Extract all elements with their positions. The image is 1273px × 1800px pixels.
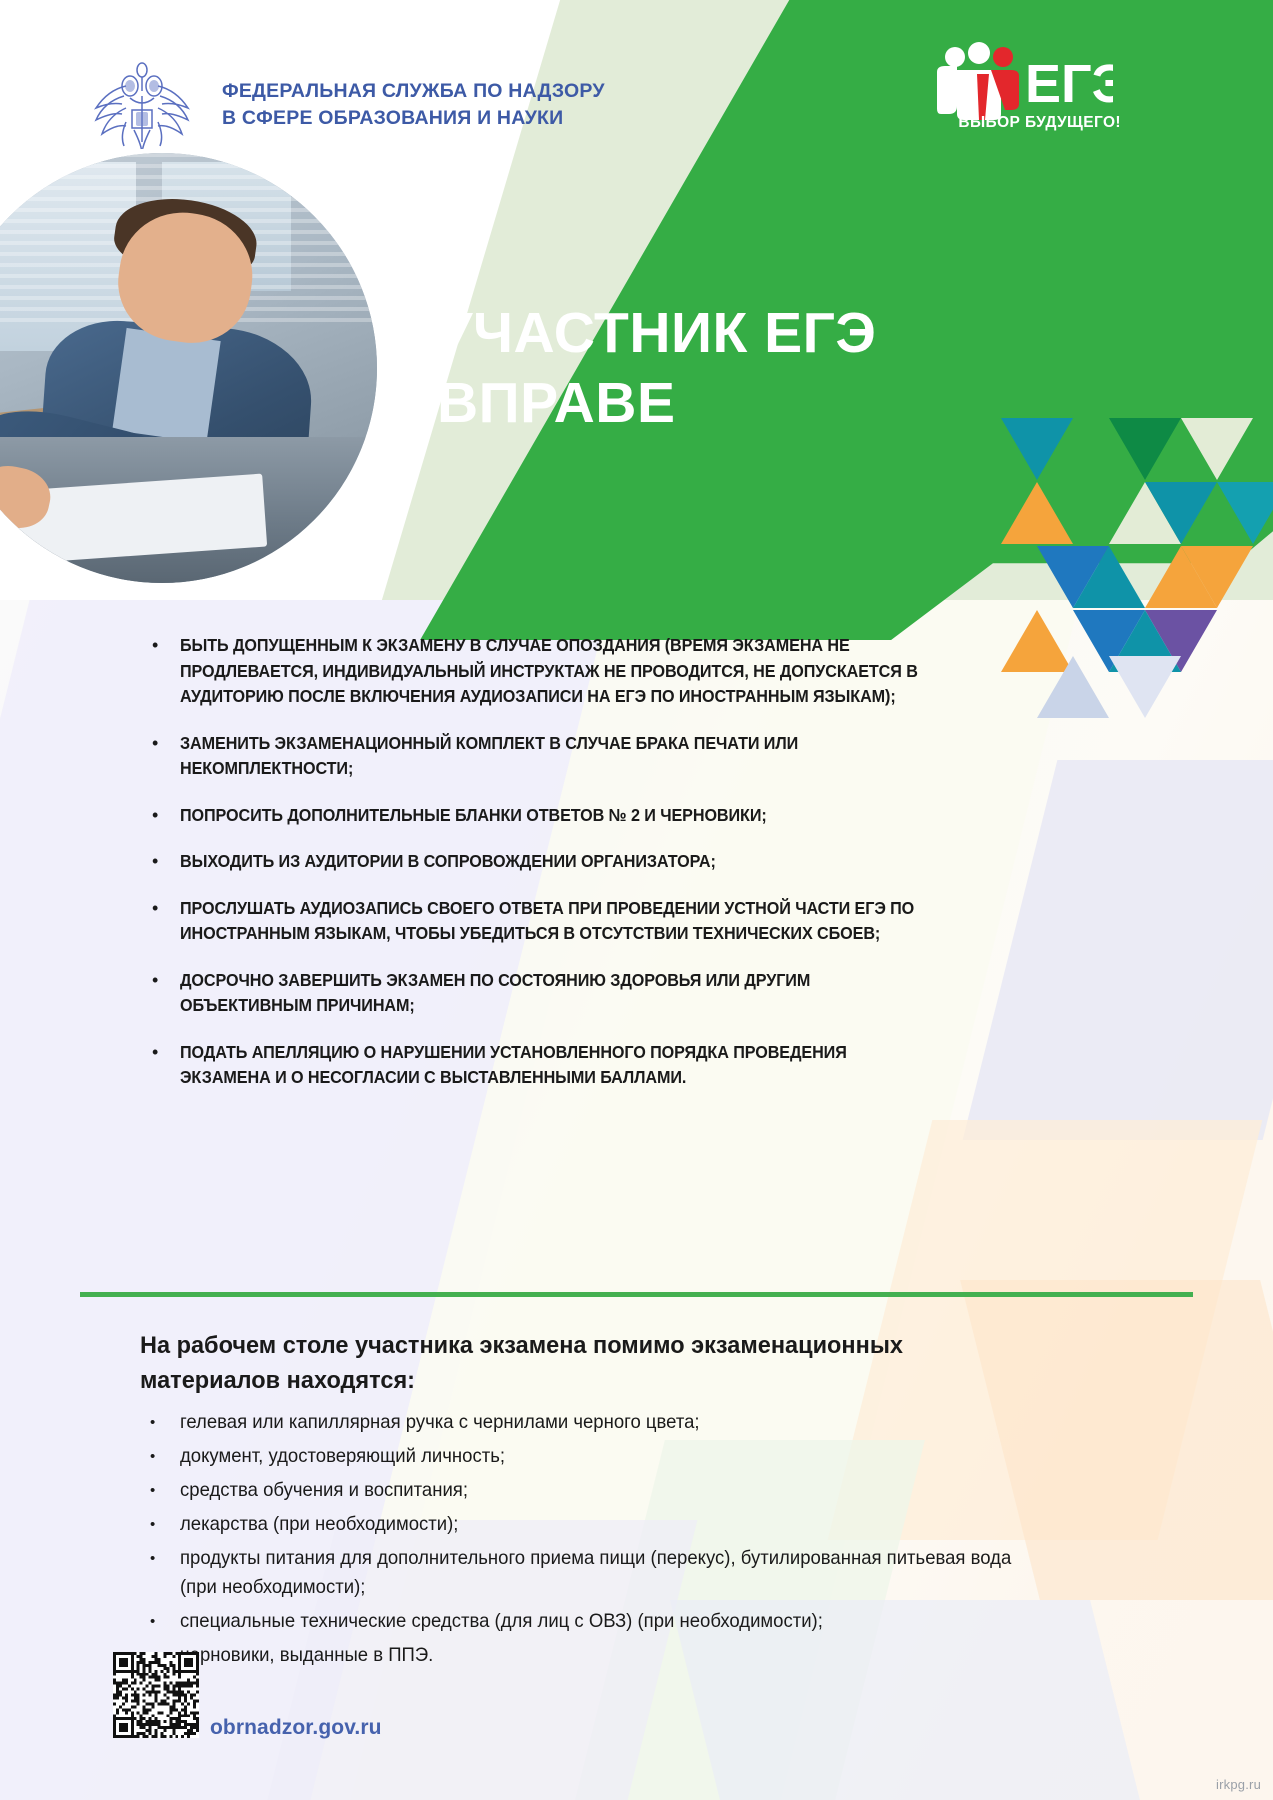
bullet-glyph: •	[140, 1442, 180, 1471]
list-item: • документ, удостоверяющий личность;	[140, 1442, 1060, 1471]
site-url-link[interactable]: obrnadzor.gov.ru	[210, 1716, 382, 1740]
list-item: • лекарства (при необходимости);	[140, 1510, 1060, 1539]
agency-title-line-1: ФЕДЕРАЛЬНАЯ СЛУЖБА ПО НАДЗОРУ	[222, 78, 605, 105]
list-item: • Попросить дополнительные бланки ответо…	[140, 803, 985, 829]
list-item-text: Подать апелляцию о нарушении установленн…	[180, 1040, 929, 1091]
list-item-text: продукты питания для дополнительного при…	[180, 1544, 1016, 1602]
triangle-mosaic-decoration	[993, 410, 1273, 710]
rights-list: • Быть допущенным к экзамену в случае оп…	[140, 633, 985, 1112]
mosaic-triangle	[1001, 418, 1073, 480]
student-writing-exam-photo	[0, 148, 382, 588]
mosaic-triangle	[1073, 546, 1145, 608]
mosaic-triangle	[1109, 656, 1181, 718]
list-item-text: Заменить экзаменационный комплект в случ…	[180, 731, 929, 782]
mosaic-triangle	[1001, 482, 1073, 544]
bullet-glyph: •	[140, 896, 180, 947]
list-item-text: Прослушать аудиозапись своего ответа при…	[180, 896, 929, 947]
list-item: • продукты питания для дополнительного п…	[140, 1544, 1060, 1602]
list-item: • Выходить из аудитории в сопровождении …	[140, 849, 985, 875]
mosaic-triangle	[1037, 656, 1109, 718]
list-item: • Досрочно завершить экзамен по состояни…	[140, 968, 985, 1019]
list-item-text: Досрочно завершить экзамен по состоянию …	[180, 968, 929, 1019]
poster-header: ФЕДЕРАЛЬНАЯ СЛУЖБА ПО НАДЗОРУ В СФЕРЕ ОБ…	[0, 0, 1273, 600]
bullet-glyph: •	[140, 1040, 180, 1091]
list-item-text: гелевая или капиллярная ручка с чернилам…	[180, 1408, 1016, 1437]
section-divider	[80, 1292, 1193, 1297]
list-item-text: средства обучения и воспитания;	[180, 1476, 1016, 1505]
bullet-glyph: •	[140, 731, 180, 782]
bullet-glyph: •	[140, 1510, 180, 1539]
list-item: • средства обучения и воспитания;	[140, 1476, 1060, 1505]
bullet-glyph: •	[140, 1544, 180, 1602]
mosaic-triangle	[1145, 482, 1217, 544]
list-item: • гелевая или капиллярная ручка с чернил…	[140, 1408, 1060, 1437]
page-title-line-1: УЧАСТНИК ЕГЭ	[437, 298, 876, 368]
list-item: • черновики, выданные в ППЭ.	[140, 1641, 1060, 1670]
mosaic-triangle	[1109, 418, 1181, 480]
bullet-glyph: •	[140, 1476, 180, 1505]
bullet-glyph: •	[140, 968, 180, 1019]
desk-items-list: • гелевая или капиллярная ручка с чернил…	[140, 1408, 1060, 1675]
list-item-text: специальные технические средства (для ли…	[180, 1607, 1016, 1636]
list-item: • Подать апелляцию о нарушении установле…	[140, 1040, 985, 1091]
poster-root: ФЕДЕРАЛЬНАЯ СЛУЖБА ПО НАДЗОРУ В СФЕРЕ ОБ…	[0, 0, 1273, 1800]
list-item-text: лекарства (при необходимости);	[180, 1510, 1016, 1539]
ege-tagline: ВЫБОР БУДУЩЕГО!	[958, 114, 1121, 132]
watermark-text: irkpg.ru	[1216, 1777, 1261, 1792]
mosaic-triangle	[1217, 482, 1273, 544]
list-item-text: Быть допущенным к экзамену в случае опоз…	[180, 633, 929, 710]
bullet-glyph: •	[140, 849, 180, 875]
list-item-text: документ, удостоверяющий личность;	[180, 1442, 1016, 1471]
mosaic-triangle	[1181, 546, 1253, 608]
bullet-glyph: •	[140, 803, 180, 829]
agency-title-line-2: В СФЕРЕ ОБРАЗОВАНИЯ И НАУКИ	[222, 105, 605, 132]
desk-section-heading: На рабочем столе участника экзамена поми…	[140, 1328, 1004, 1398]
page-title: УЧАСТНИК ЕГЭ ВПРАВЕ	[437, 298, 876, 438]
decorative-band-lavender	[963, 760, 1273, 1140]
page-title-line-2: ВПРАВЕ	[437, 368, 876, 438]
agency-title: ФЕДЕРАЛЬНАЯ СЛУЖБА ПО НАДЗОРУ В СФЕРЕ ОБ…	[222, 78, 605, 132]
svg-text:ЕГЭ: ЕГЭ	[1025, 54, 1113, 114]
bullet-glyph: •	[140, 633, 180, 710]
list-item: • Быть допущенным к экзамену в случае оп…	[140, 633, 985, 710]
qr-code-icon[interactable]	[113, 1652, 199, 1738]
list-item: • Заменить экзаменационный комплект в сл…	[140, 731, 985, 782]
list-item-text: Выходить из аудитории в сопровождении ор…	[180, 849, 929, 875]
bullet-glyph: •	[140, 1408, 180, 1437]
list-item: • Прослушать аудиозапись своего ответа п…	[140, 896, 985, 947]
bullet-glyph: •	[140, 1607, 180, 1636]
list-item: • специальные технические средства (для …	[140, 1607, 1060, 1636]
list-item-text: Попросить дополнительные бланки ответов …	[180, 803, 929, 829]
mosaic-triangle	[1181, 418, 1253, 480]
double-headed-eagle-emblem-icon	[86, 52, 198, 164]
list-item-text: черновики, выданные в ППЭ.	[180, 1641, 1016, 1670]
